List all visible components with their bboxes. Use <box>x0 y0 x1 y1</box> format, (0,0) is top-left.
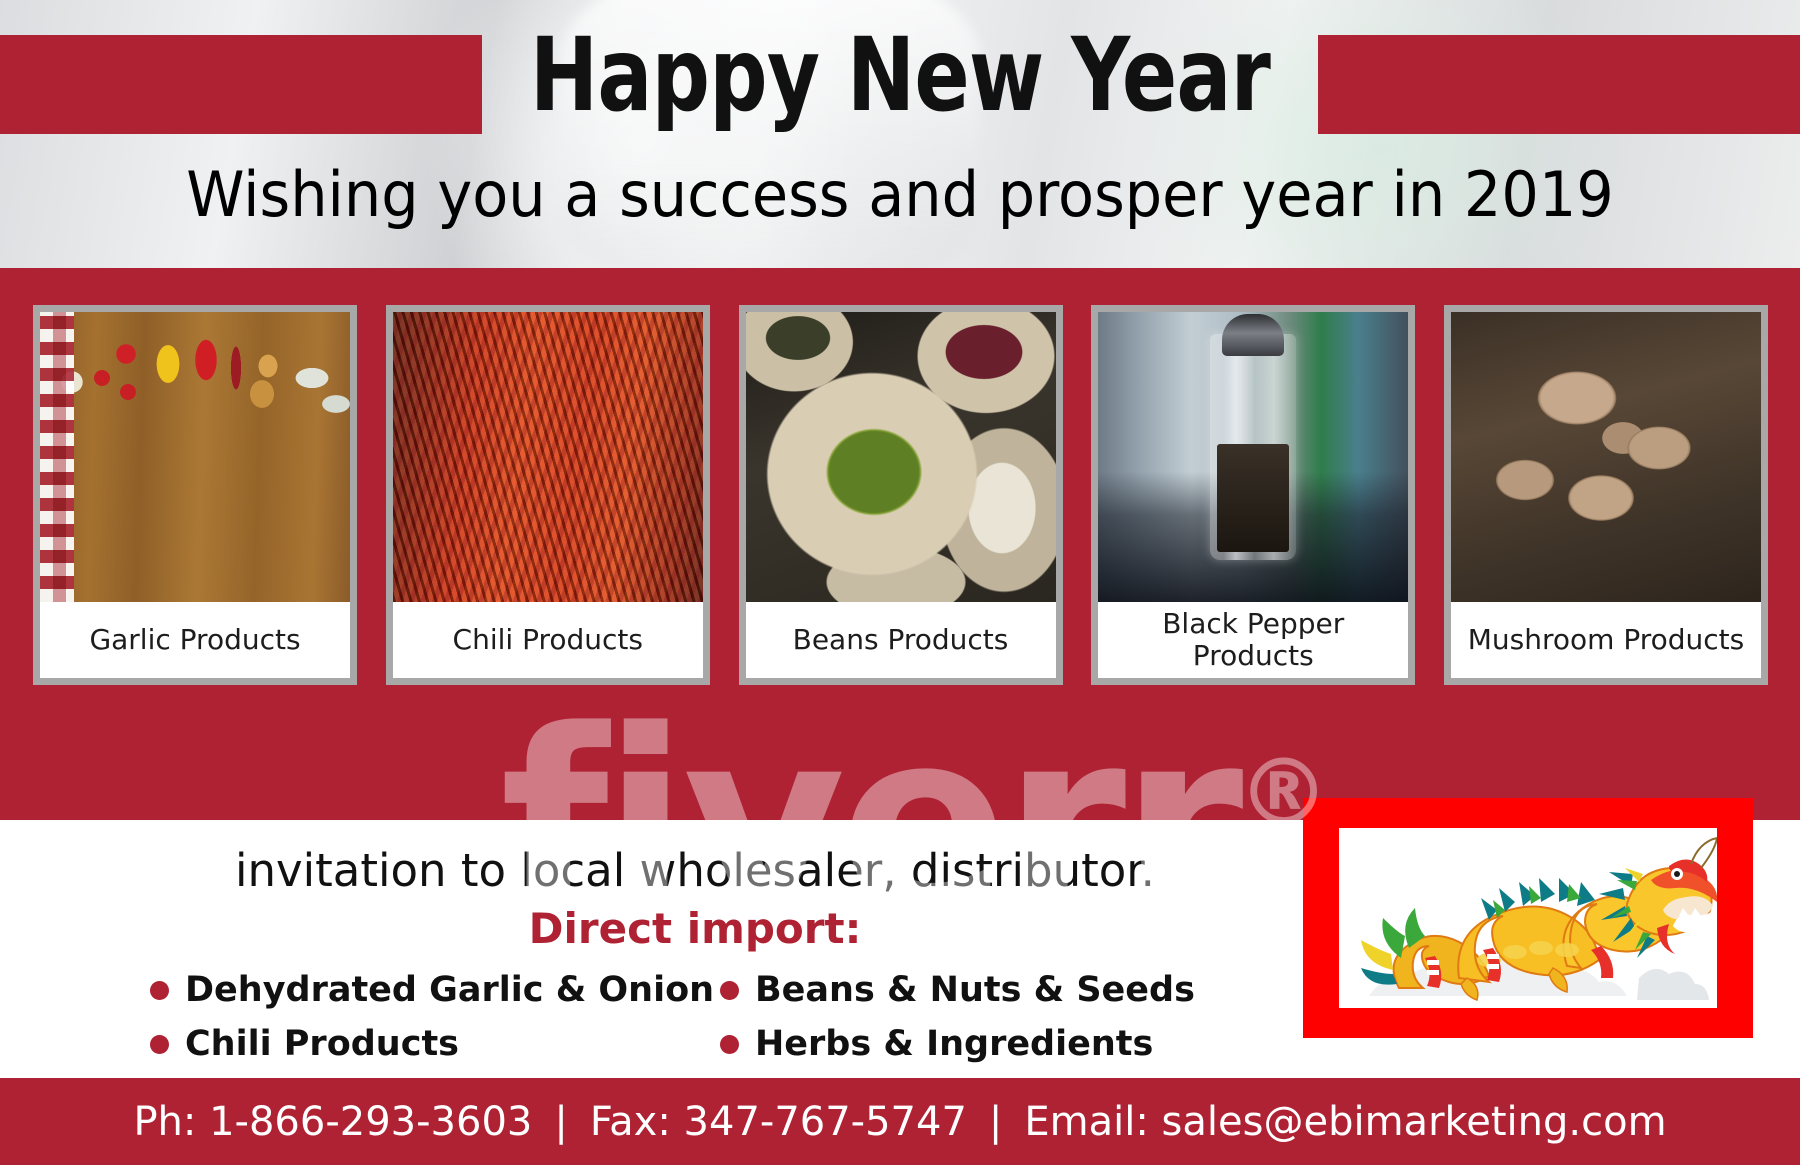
black-pepper-shaker-photo <box>1098 312 1408 602</box>
contact-footer: Ph: 1-866-293-3603 | Fax: 347-767-5747 |… <box>0 1078 1800 1165</box>
list-item: Herbs & Ingredients <box>720 1024 1240 1064</box>
dragon-image-frame <box>1303 798 1753 1038</box>
page-title: Happy New Year <box>180 14 1620 138</box>
list-item: Dehydrated Garlic & Onion <box>150 970 720 1010</box>
list-item: Chili Products <box>150 1024 720 1064</box>
chinese-golden-dragon-statue <box>1339 828 1717 1008</box>
dragon-icon <box>1339 828 1717 1008</box>
header-section: Happy New Year Wishing you a success and… <box>0 0 1800 268</box>
product-card-mushroom[interactable]: Mushroom Products <box>1444 305 1768 685</box>
product-card-label: Beans Products <box>746 602 1056 678</box>
shiitake-mushrooms-photo <box>1451 312 1761 602</box>
bullet-dot-icon <box>720 1035 739 1054</box>
bullet-dot-icon <box>150 981 169 1000</box>
list-item-label: Dehydrated Garlic & Onion <box>185 970 714 1010</box>
product-card-garlic[interactable]: Garlic Products <box>33 305 357 685</box>
header-subtitle: Wishing you a success and prosper year i… <box>45 140 1755 250</box>
product-card-label: Black Pepper Products <box>1098 602 1408 678</box>
bullet-dot-icon <box>150 1035 169 1054</box>
product-card-label: Mushroom Products <box>1451 602 1761 678</box>
bullet-dot-icon <box>720 981 739 1000</box>
product-card-chili[interactable]: Chili Products <box>386 305 710 685</box>
footer-separator: | <box>967 1099 1024 1145</box>
product-card-label: Garlic Products <box>40 602 350 678</box>
invitation-text: invitation to local wholesaler, distribu… <box>80 844 1310 897</box>
product-card-label: Chili Products <box>393 602 703 678</box>
product-category-list: Dehydrated Garlic & Onion Beans & Nuts &… <box>150 970 1310 1064</box>
footer-separator: | <box>532 1099 589 1145</box>
list-item: Beans & Nuts & Seeds <box>720 970 1240 1010</box>
product-card-beans[interactable]: Beans Products <box>739 305 1063 685</box>
beans-in-burlap-sacks-photo <box>746 312 1056 602</box>
product-card-black-pepper[interactable]: Black Pepper Products <box>1091 305 1415 685</box>
list-item-label: Herbs & Ingredients <box>755 1024 1153 1064</box>
direct-import-heading: Direct import: <box>80 904 1310 953</box>
list-item-label: Chili Products <box>185 1024 459 1064</box>
product-card-list: Garlic Products Chili Products Beans Pro… <box>33 305 1768 685</box>
fax-number: Fax: 347-767-5747 <box>590 1099 967 1145</box>
new-year-marketing-banner: Happy New Year Wishing you a success and… <box>0 0 1800 1165</box>
pepper-shaker-icon <box>1210 334 1296 560</box>
products-section: Garlic Products Chili Products Beans Pro… <box>0 268 1800 820</box>
email-address[interactable]: Email: sales@ebimarketing.com <box>1024 1099 1666 1145</box>
phone-number[interactable]: Ph: 1-866-293-3603 <box>133 1099 532 1145</box>
dried-red-chili-peppers-photo <box>393 312 703 602</box>
garlic-vegetables-on-wood-photo <box>40 312 350 602</box>
list-item-label: Beans & Nuts & Seeds <box>755 970 1195 1010</box>
